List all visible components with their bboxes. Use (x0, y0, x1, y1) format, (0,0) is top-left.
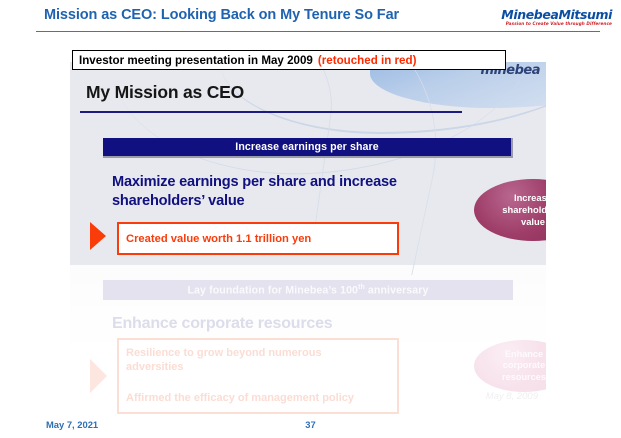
caption-box: Investor meeting presentation in May 200… (72, 50, 506, 70)
page-footer: May 7, 2021 37 (0, 414, 621, 438)
faded-arrow-icon (90, 359, 107, 393)
page-header: Mission as CEO: Looking Back on My Tenur… (0, 0, 621, 34)
headline-enhance-corporate-resources: Enhance corporate resources (112, 315, 332, 333)
faded-callout-line-1: Resilience to grow beyond numerous adver… (126, 346, 376, 374)
slide-title: My Mission as CEO (86, 82, 244, 103)
footer-page-number: 37 (0, 419, 621, 430)
banner-foundation-superscript: th (358, 284, 365, 291)
banner-foundation-prefix: Lay foundation for Minebea’s 100 (187, 284, 358, 296)
banner-foundation-suffix: anniversary (365, 284, 429, 296)
header-divider (36, 31, 600, 32)
banner-increase-eps: Increase earnings per share (103, 138, 513, 158)
slide-title-underline (80, 111, 462, 113)
logo-tagline: Passion to Create Value through Differen… (492, 21, 612, 27)
banner-lay-foundation-label: Lay foundation for Minebea’s 100th anniv… (187, 284, 428, 297)
red-arrow-icon (90, 222, 106, 250)
slide-date: May 8, 2009 (486, 391, 538, 402)
minebeamitsumi-logo: MinebeaMitsumi Passion to Create Value t… (494, 8, 612, 27)
ellipse-resources-line-3: resources (502, 372, 546, 384)
ellipse-resources-line-2: corporate (503, 360, 545, 372)
embedded-slide: minebea My Mission as CEO Increase earni… (70, 62, 546, 414)
ellipse-line-1: Increase (514, 192, 546, 204)
faded-callout-line-2: Affirmed the efficacy of management poli… (126, 391, 397, 405)
banner-lay-foundation: Lay foundation for Minebea’s 100th anniv… (103, 280, 513, 300)
ellipse-line-3: value (521, 216, 545, 228)
banner-increase-eps-label: Increase earnings per share (235, 141, 378, 153)
headline-maximize-eps: Maximize earnings per share and increase… (112, 173, 422, 211)
ellipse-resources-line-1: Enhance (505, 349, 543, 361)
red-callout-label: Created value worth 1.1 trillion yen (126, 233, 311, 245)
faded-callout-box: Resilience to grow beyond numerous adver… (117, 338, 399, 414)
caption-annotation-text: (retouched in red) (318, 54, 417, 67)
red-callout-box: Created value worth 1.1 trillion yen (117, 222, 399, 255)
ellipse-line-2: shareholders’ (502, 204, 546, 216)
logo-wordmark: MinebeaMitsumi (494, 8, 612, 21)
caption-main-text: Investor meeting presentation in May 200… (79, 54, 313, 67)
page-title: Mission as CEO: Looking Back on My Tenur… (44, 7, 399, 23)
